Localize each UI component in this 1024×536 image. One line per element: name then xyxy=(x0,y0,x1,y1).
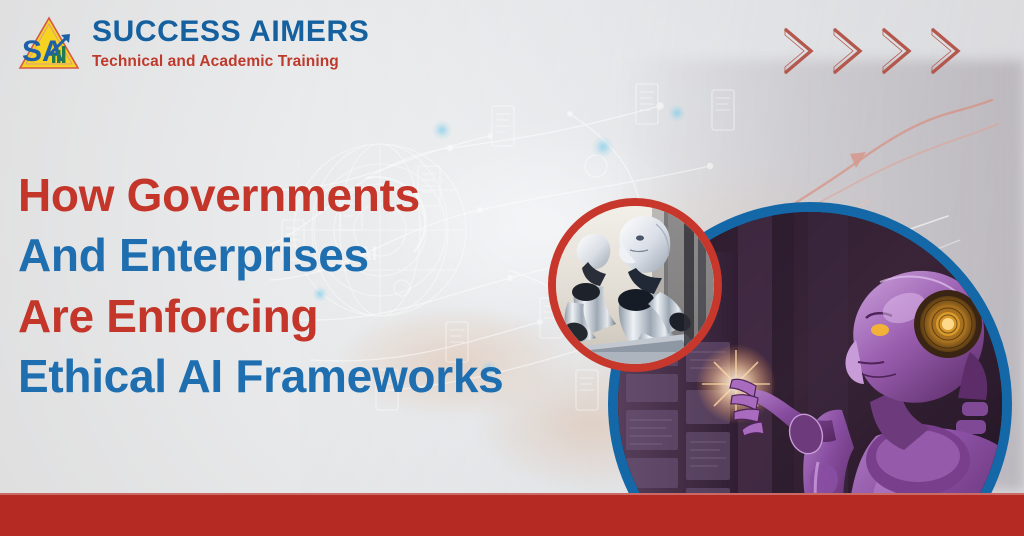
success-aimers-logo-icon: SA xyxy=(16,10,82,76)
chevron-group xyxy=(778,24,965,78)
headline: How Governments And Enterprises Are Enfo… xyxy=(18,168,503,409)
headline-line-3: Are Enforcing xyxy=(18,289,503,343)
headline-line-4: Ethical AI Frameworks xyxy=(18,349,503,403)
chevron-right-icon xyxy=(876,24,916,78)
chevron-right-icon xyxy=(778,24,818,78)
banner-root: AI xyxy=(0,0,1024,536)
brand-wordmark: SUCCESS AIMERS Technical and Academic Tr… xyxy=(92,17,369,70)
headline-line-1: How Governments xyxy=(18,168,503,222)
chevron-right-icon xyxy=(827,24,867,78)
brand-tagline: Technical and Academic Training xyxy=(92,54,369,70)
bottom-bar-highlight xyxy=(0,493,1024,495)
small-circle-image xyxy=(548,198,722,372)
humanoid-robots-photo xyxy=(556,206,714,364)
headline-line-2: And Enterprises xyxy=(18,228,503,282)
brand-logo[interactable]: SA SUCCESS AIMERS Technical and Academic… xyxy=(16,10,369,76)
brand-title: SUCCESS AIMERS xyxy=(92,17,369,47)
bottom-accent-bar xyxy=(0,493,1024,536)
chevron-right-icon xyxy=(925,24,965,78)
